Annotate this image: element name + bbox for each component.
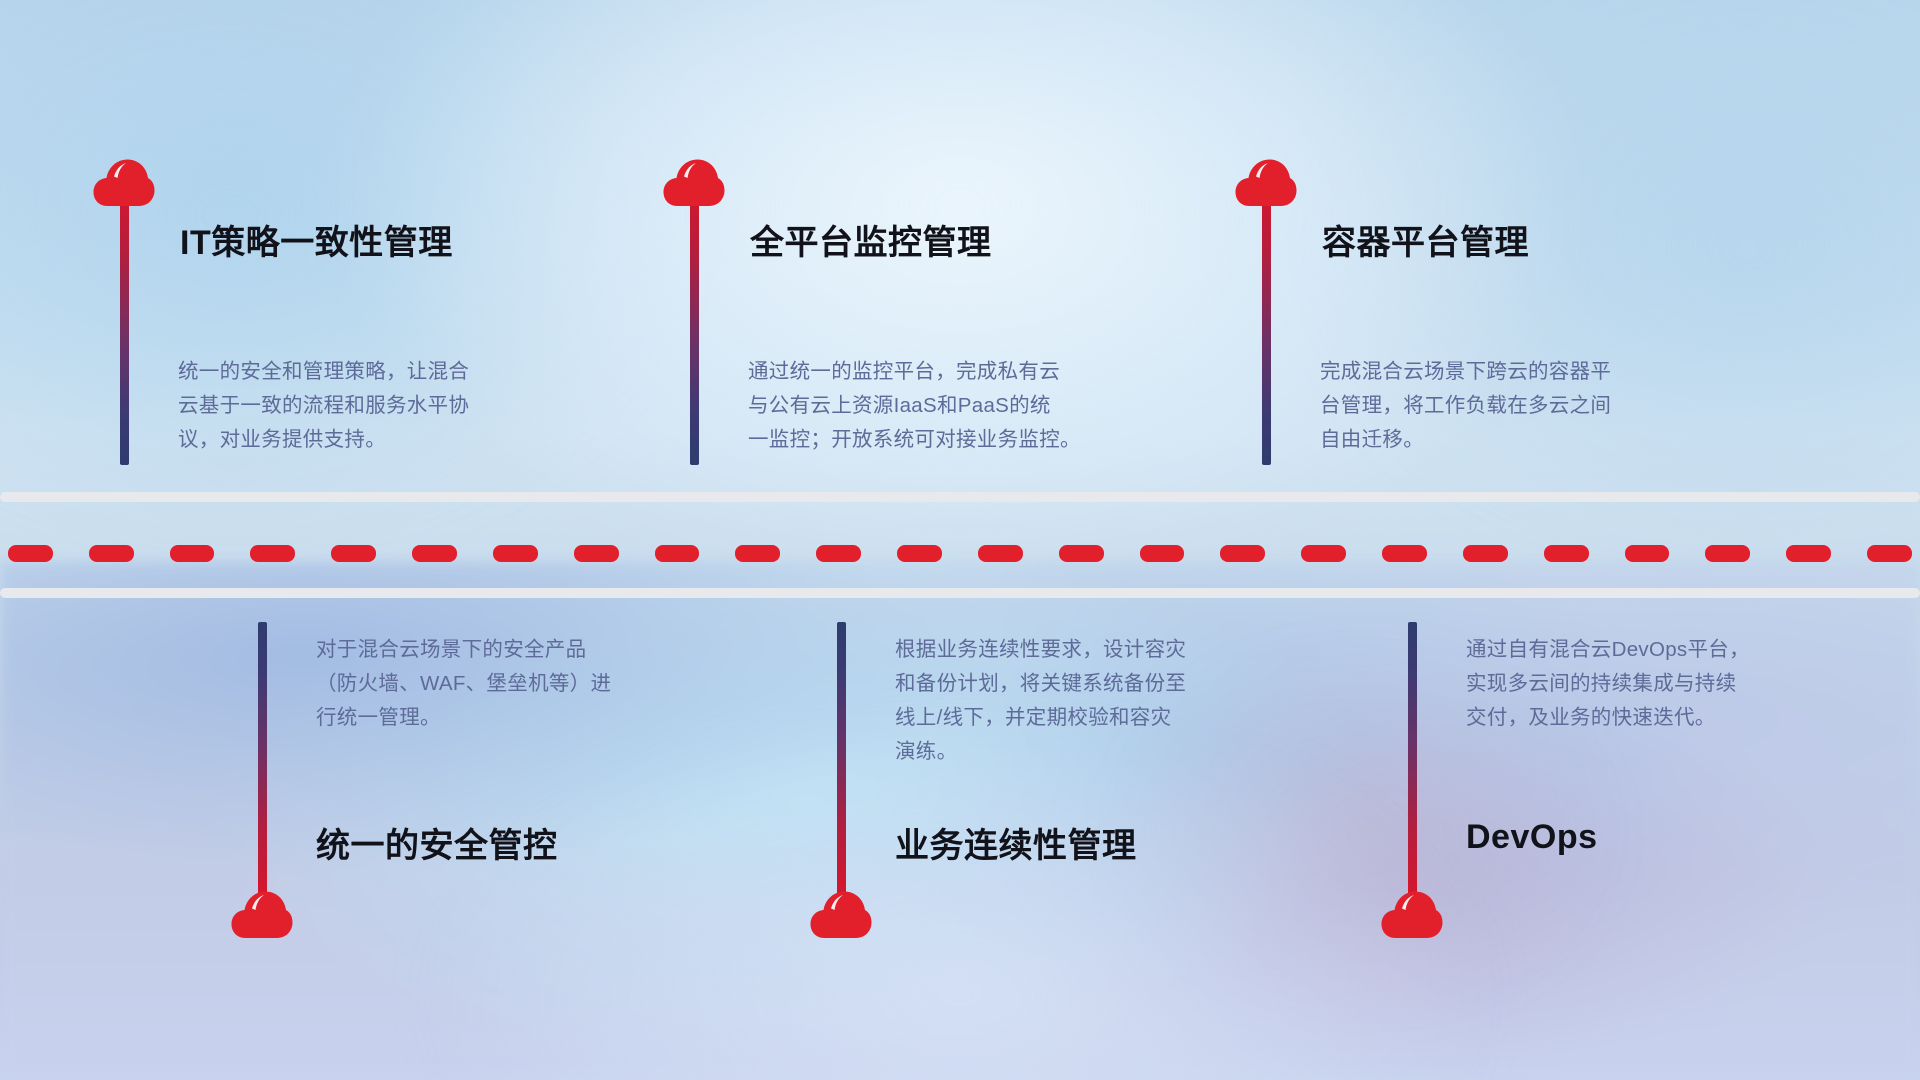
description-line: 线上/线下，并定期校验和容灾 (895, 701, 1325, 735)
column-title: DevOps (1466, 818, 1598, 857)
column-title: 容器平台管理 (1322, 215, 1529, 264)
road-dash (1705, 545, 1750, 562)
road-dash (655, 545, 700, 562)
road-dash (412, 545, 457, 562)
road-dash (897, 545, 942, 562)
column-description: 通过统一的监控平台，完成私有云与公有云上资源IaaS和PaaS的统一监控；开放系… (748, 355, 1178, 457)
road-dash (1059, 545, 1104, 562)
road-dash (978, 545, 1023, 562)
connector-stem (120, 180, 129, 465)
column-description: 统一的安全和管理策略，让混合云基于一致的流程和服务水平协议，对业务提供支持。 (178, 355, 608, 457)
description-line: 对于混合云场景下的安全产品 (316, 633, 746, 667)
connector-stem (1262, 180, 1271, 465)
description-line: 完成混合云场景下跨云的容器平 (1320, 355, 1750, 389)
column-description: 完成混合云场景下跨云的容器平台管理，将工作负载在多云之间自由迁移。 (1320, 355, 1750, 457)
connector-stem (690, 180, 699, 465)
road-dash (1301, 545, 1346, 562)
road-dash (250, 545, 295, 562)
road-dashed-center-line (0, 545, 1920, 562)
road-dash (1220, 545, 1265, 562)
cloud-icon (231, 890, 293, 940)
column-description: 通过自有混合云DevOps平台，实现多云间的持续集成与持续交付，及业务的快速迭代… (1466, 633, 1896, 735)
road-dash (1867, 545, 1912, 562)
description-line: 交付，及业务的快速迭代。 (1466, 701, 1896, 735)
description-line: 统一的安全和管理策略，让混合 (178, 355, 608, 389)
road-dash (1140, 545, 1185, 562)
description-line: 议，对业务提供支持。 (178, 423, 608, 457)
description-line: 通过统一的监控平台，完成私有云 (748, 355, 1178, 389)
column-title: 全平台监控管理 (750, 215, 992, 264)
road-dash (1786, 545, 1831, 562)
description-line: 与公有云上资源IaaS和PaaS的统 (748, 389, 1178, 423)
road-dash (1544, 545, 1589, 562)
road-dash (331, 545, 376, 562)
road-dash (8, 545, 53, 562)
description-line: 台管理，将工作负载在多云之间 (1320, 389, 1750, 423)
road-dash (816, 545, 861, 562)
connector-stem (1408, 622, 1417, 902)
description-line: （防火墙、WAF、堡垒机等）进 (316, 667, 746, 701)
column-title: IT策略一致性管理 (180, 215, 453, 264)
cloud-icon (663, 158, 725, 208)
description-line: 根据业务连续性要求，设计容灾 (895, 633, 1325, 667)
column-description: 对于混合云场景下的安全产品（防火墙、WAF、堡垒机等）进行统一管理。 (316, 633, 746, 735)
road-line-bottom (0, 588, 1920, 598)
road-dash (1463, 545, 1508, 562)
description-line: 实现多云间的持续集成与持续 (1466, 667, 1896, 701)
column-title: 业务连续性管理 (895, 818, 1137, 867)
road-dash (1625, 545, 1670, 562)
connector-stem (837, 622, 846, 902)
description-line: 通过自有混合云DevOps平台， (1466, 633, 1896, 667)
road-dash (170, 545, 215, 562)
description-line: 和备份计划，将关键系统备份至 (895, 667, 1325, 701)
cloud-icon (1235, 158, 1297, 208)
description-line: 自由迁移。 (1320, 423, 1750, 457)
road-dash (89, 545, 134, 562)
road-dash (574, 545, 619, 562)
column-description: 根据业务连续性要求，设计容灾和备份计划，将关键系统备份至线上/线下，并定期校验和… (895, 633, 1325, 769)
description-line: 一监控；开放系统可对接业务监控。 (748, 423, 1178, 457)
description-line: 行统一管理。 (316, 701, 746, 735)
road-dash (493, 545, 538, 562)
road-dash (1382, 545, 1427, 562)
cloud-icon (1381, 890, 1443, 940)
cloud-icon (810, 890, 872, 940)
description-line: 云基于一致的流程和服务水平协 (178, 389, 608, 423)
road-dash (735, 545, 780, 562)
connector-stem (258, 622, 267, 902)
infographic-canvas: IT策略一致性管理 统一的安全和管理策略，让混合云基于一致的流程和服务水平协议，… (0, 0, 1920, 1080)
column-title: 统一的安全管控 (316, 818, 558, 867)
cloud-icon (93, 158, 155, 208)
description-line: 演练。 (895, 735, 1325, 769)
road-line-top (0, 492, 1920, 502)
